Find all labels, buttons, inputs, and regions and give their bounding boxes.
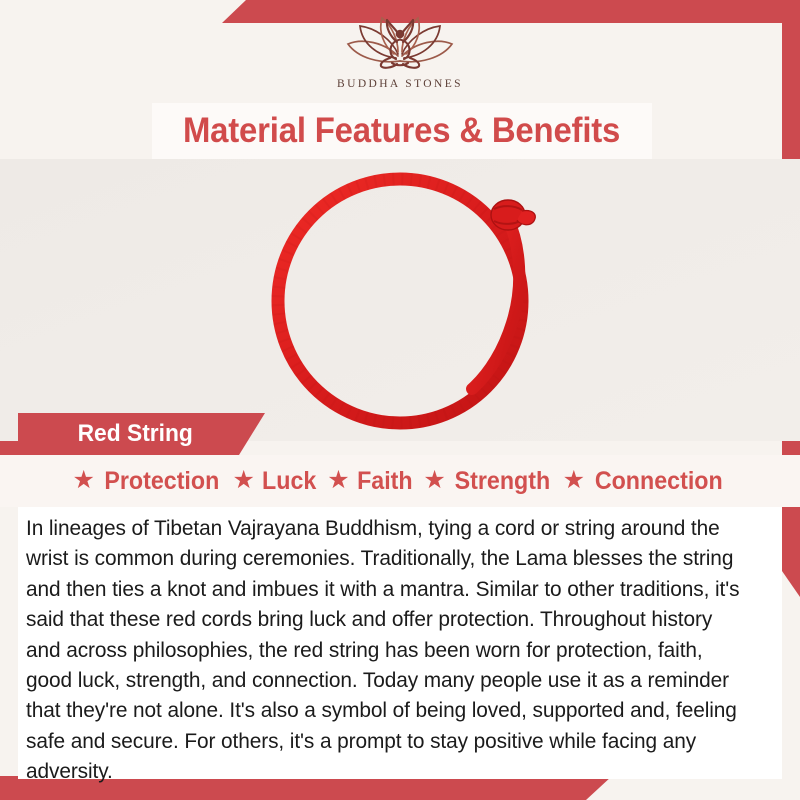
star-icon: ★: [72, 468, 94, 493]
benefit-label: Luck: [262, 467, 316, 496]
benefit-label: Strength: [454, 467, 550, 496]
benefit-item-protection: ★ Protection: [72, 467, 223, 496]
benefit-item-connection: ★ Connection: [563, 467, 728, 496]
benefit-item-strength: ★ Strength: [423, 467, 553, 496]
benefit-label: Protection: [104, 467, 219, 496]
red-string-bracelet-image: [258, 167, 558, 432]
benefit-item-luck: ★ Luck: [233, 467, 319, 496]
brand-logo: BUDDHA STONES: [0, 14, 800, 90]
description-text: In lineages of Tibetan Vajrayana Buddhis…: [26, 513, 750, 787]
material-name-ribbon: Red String: [18, 413, 265, 455]
brand-name: BUDDHA STONES: [337, 78, 463, 90]
infographic-poster: BUDDHA STONES Material Features & Benefi…: [0, 0, 800, 800]
star-icon: ★: [327, 468, 349, 493]
description-panel: In lineages of Tibetan Vajrayana Buddhis…: [18, 507, 782, 779]
star-icon: ★: [423, 468, 445, 493]
benefit-item-faith: ★ Faith: [327, 467, 414, 496]
lotus-meditation-figure-icon: [340, 14, 460, 76]
page-title: Material Features & Benefits: [183, 111, 620, 151]
star-icon: ★: [233, 468, 255, 493]
benefits-row: ★ Protection ★ Luck ★ Faith ★ Strength ★…: [0, 455, 800, 507]
benefit-label: Faith: [357, 467, 413, 496]
product-image-area: [0, 159, 800, 441]
title-band: Material Features & Benefits: [152, 103, 652, 159]
star-icon: ★: [563, 468, 585, 493]
benefit-label: Connection: [595, 467, 723, 496]
material-name-label: Red String: [22, 420, 192, 448]
